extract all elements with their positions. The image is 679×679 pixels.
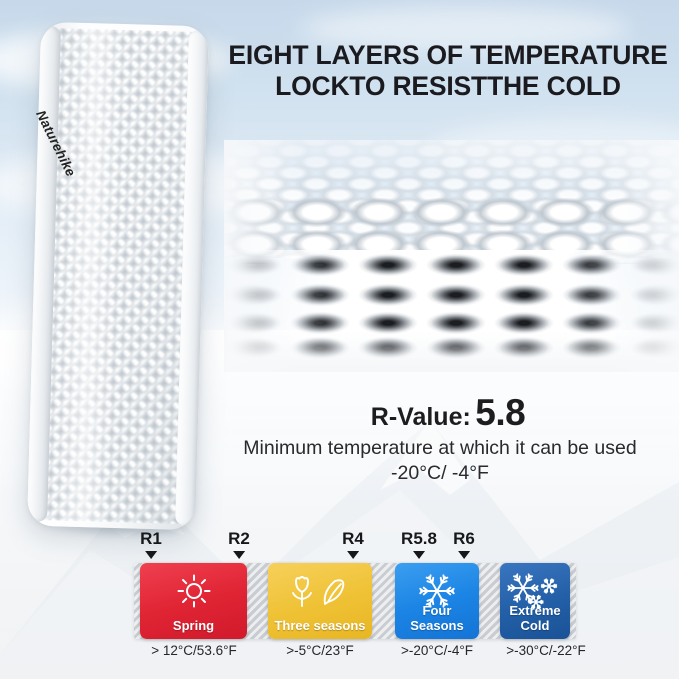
scale-tick-arrow-icon: [347, 551, 359, 559]
scale-tick-r4: R4: [342, 530, 364, 559]
scale-tick-arrow-icon: [145, 551, 157, 559]
season-card-icon: [268, 570, 372, 612]
product-infographic: Naturehike EIGHT LAYERS OF TEMPERATURE L…: [0, 0, 679, 679]
temperature-range-row: > 12°C/53.6°F>-5°C/23°F>-20°C/-4°F>-30°C…: [134, 643, 576, 667]
scale-tick-label: R1: [140, 530, 162, 547]
r-value-min-temperature: -20°C/ -4°F: [200, 461, 679, 486]
scale-tick-r6: R6: [453, 530, 475, 559]
headline-line-1: EIGHT LAYERS OF TEMPERATURE: [222, 40, 674, 71]
scale-tick-label: R4: [342, 530, 364, 547]
sleeping-pad: Naturehike: [27, 22, 209, 530]
r-value-heading: R-Value: 5.8: [222, 392, 674, 434]
temperature-range: > 12°C/53.6°F: [151, 643, 236, 658]
season-card-spring[interactable]: Spring: [140, 563, 247, 639]
insulation-layer: [224, 336, 679, 360]
temperature-range: >-30°C/-22°F: [506, 643, 585, 658]
season-card-label: Spring: [140, 618, 247, 633]
headline-line-2: LOCKTO RESISTTHE COLD: [222, 71, 674, 102]
tulip-leaf-icon: [287, 573, 353, 609]
eight-layer-cross-section: [224, 140, 679, 372]
r-value-scale: R1 R2 R4 R5.8 R6 Spring Three seasons Fo…: [134, 530, 576, 675]
r-value-description: Minimum temperature at which it can be u…: [200, 436, 679, 461]
r-value-description-block: Minimum temperature at which it can be u…: [200, 436, 679, 486]
season-card-icon: [140, 570, 247, 612]
scale-tick-arrow-icon: [233, 551, 245, 559]
scale-tick-r1: R1: [140, 530, 162, 559]
season-card-four-seasons[interactable]: Four Seasons: [395, 563, 479, 639]
r-value-label: R-Value:: [371, 403, 471, 431]
season-card-label: Four Seasons: [395, 603, 479, 633]
insulation-layer: [224, 280, 679, 310]
season-card-three-seasons[interactable]: Three seasons: [268, 563, 372, 639]
insulation-layer: [224, 250, 679, 280]
page-title: EIGHT LAYERS OF TEMPERATURE LOCKTO RESIS…: [222, 40, 674, 102]
scale-tick-label: R6: [453, 530, 475, 547]
season-card-label: Extreme Cold: [500, 603, 570, 633]
season-card-label: Three seasons: [268, 618, 372, 633]
scale-tick-arrow-icon: [413, 551, 425, 559]
scale-tick-r5-8: R5.8: [401, 530, 437, 559]
sun-icon: [177, 574, 211, 608]
scale-tick-label: R2: [228, 530, 250, 547]
temperature-range: >-20°C/-4°F: [401, 643, 473, 658]
scale-tick-arrow-icon: [458, 551, 470, 559]
scale-tick-label: R5.8: [401, 530, 437, 547]
insulation-layer: [224, 310, 679, 336]
scale-tick-r2: R2: [228, 530, 250, 559]
temperature-range: >-5°C/23°F: [286, 643, 353, 658]
season-card-extreme-cold[interactable]: Extreme Cold: [500, 563, 570, 639]
r-value-number: 5.8: [475, 392, 525, 433]
